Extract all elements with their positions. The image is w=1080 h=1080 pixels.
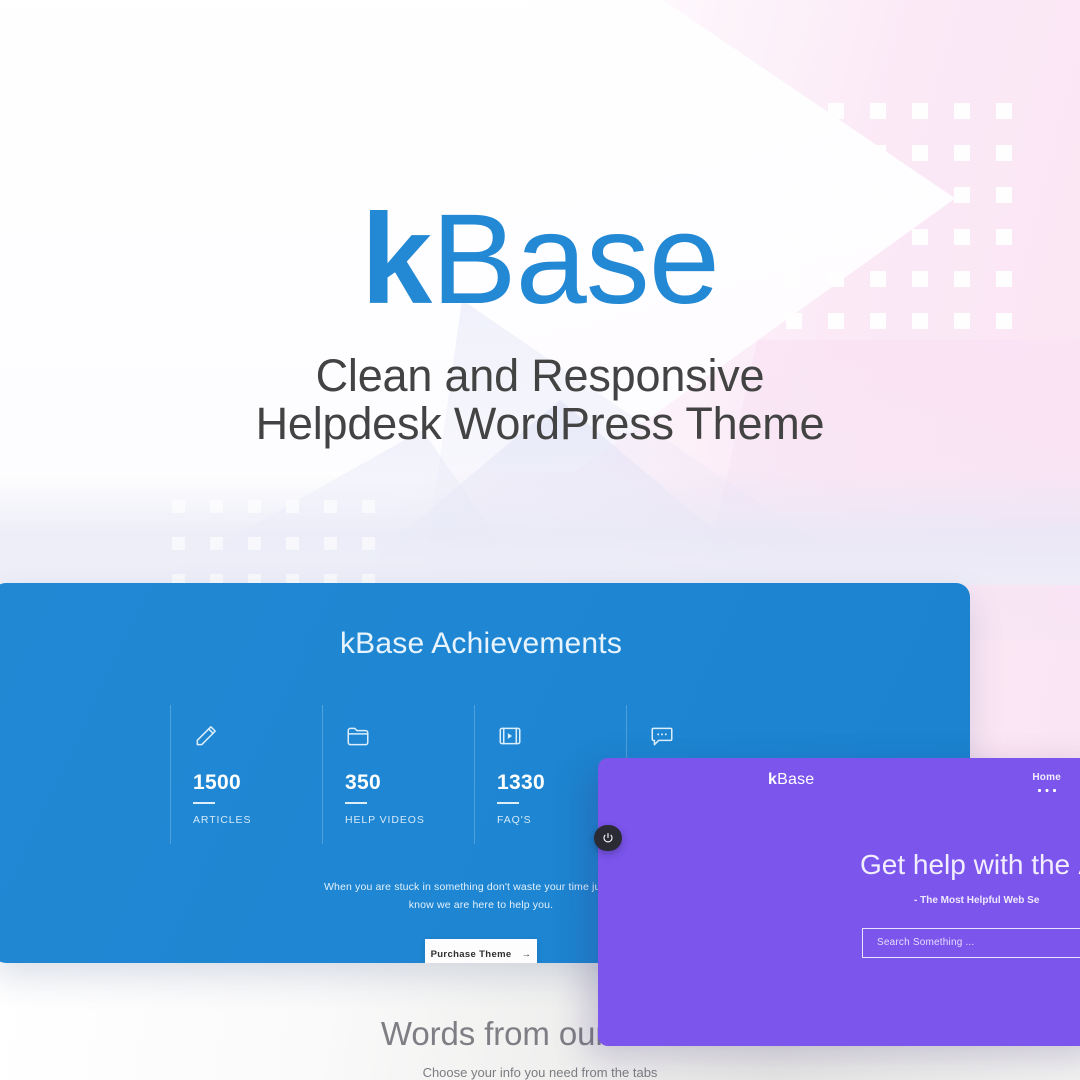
preview-kbase-logo[interactable]: kBase xyxy=(768,771,814,789)
kbase-logo: kBase xyxy=(0,196,1080,324)
video-icon xyxy=(497,723,523,749)
stat-help-videos: 350 HELP VIDEOS xyxy=(322,705,474,844)
testimonials-subtitle: Choose your info you need from the tabs xyxy=(0,1065,1080,1080)
preview-heading: Get help with the Adva xyxy=(860,850,1080,881)
hero-tagline-line-2: Helpdesk WordPress Theme xyxy=(0,400,1080,448)
purchase-theme-label: Purchase Theme xyxy=(431,949,512,960)
stat-rule xyxy=(345,802,367,804)
purchase-theme-button[interactable]: Purchase Theme → xyxy=(425,939,537,963)
hero-tagline: Clean and Responsive Helpdesk WordPress … xyxy=(0,352,1080,448)
dot-grid-mid-left xyxy=(172,500,375,587)
stat-label: HELP VIDEOS xyxy=(345,814,474,826)
preview-nav: Home Blog xyxy=(1032,772,1080,793)
stat-rule xyxy=(497,802,519,804)
comment-icon xyxy=(649,723,675,749)
stat-value: 1500 xyxy=(193,771,322,794)
achievements-description-line-2: know we are here to help you. xyxy=(409,899,553,911)
power-icon xyxy=(602,832,614,844)
preview-logo-word-base: Base xyxy=(777,771,814,788)
preview-logo-letter-k: k xyxy=(768,771,777,788)
folder-icon xyxy=(345,723,371,749)
nav-item-home-label: Home xyxy=(1032,772,1061,783)
search-input-placeholder: Search Something ... xyxy=(877,937,974,948)
preview-hero: Get help with the Adva - The Most Helpfu… xyxy=(598,850,1080,958)
hero-tagline-line-1: Clean and Responsive xyxy=(0,352,1080,400)
logo-letter-k: k xyxy=(361,188,431,331)
preview-subtitle: - The Most Helpful Web Se xyxy=(860,895,1080,906)
stat-rule xyxy=(193,802,215,804)
logo-word-base: Base xyxy=(431,188,719,331)
site-preview-panel: kBase Home Blog Get help with the Adva -… xyxy=(598,758,1080,1046)
arrow-right-icon: → xyxy=(522,949,532,960)
hero-section: kBase Clean and Responsive Helpdesk Word… xyxy=(0,196,1080,448)
background-band xyxy=(0,470,1080,585)
stat-articles: 1500 ARTICLES xyxy=(170,705,322,844)
achievements-title: kBase Achievements xyxy=(0,627,970,661)
search-input[interactable]: Search Something ... xyxy=(862,928,1080,958)
power-toggle-button[interactable] xyxy=(594,825,622,851)
pencil-icon xyxy=(193,723,219,749)
preview-heading-normal: Get help with the xyxy=(860,849,1078,880)
screenshot-canvas: kBase Clean and Responsive Helpdesk Word… xyxy=(0,0,1080,1080)
achievements-description-line-1: When you are stuck in something don't wa… xyxy=(324,881,638,893)
stat-value: 350 xyxy=(345,771,474,794)
preview-topbar: kBase Home Blog xyxy=(598,758,1080,804)
stat-label: ARTICLES xyxy=(193,814,322,826)
nav-item-home[interactable]: Home xyxy=(1032,772,1061,793)
